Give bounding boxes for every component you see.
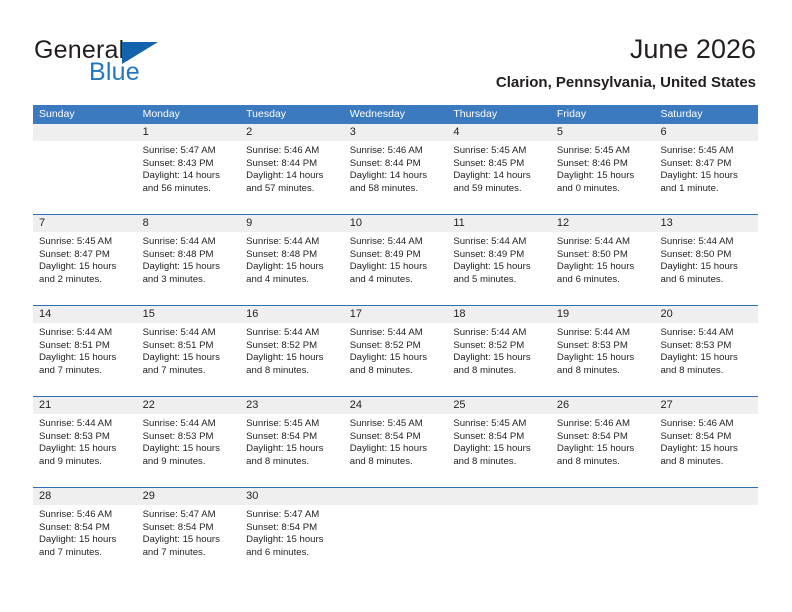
daylight-text-line2: and 4 minutes. [246, 274, 338, 287]
daylight-text-line2: and 58 minutes. [350, 183, 442, 196]
title-block: June 2026 Clarion, Pennsylvania, United … [496, 32, 756, 92]
day-number: 17 [344, 306, 448, 323]
calendar-day-cell[interactable]: 13Sunrise: 5:44 AMSunset: 8:50 PMDayligh… [654, 215, 758, 305]
calendar-day-cell[interactable]: 11Sunrise: 5:44 AMSunset: 8:49 PMDayligh… [447, 215, 551, 305]
day-number: 27 [654, 397, 758, 414]
sunset-text: Sunset: 8:53 PM [39, 431, 131, 444]
daylight-text-line1: Daylight: 15 hours [453, 443, 545, 456]
day-number: 28 [33, 488, 137, 505]
calendar-week-row: 7Sunrise: 5:45 AMSunset: 8:47 PMDaylight… [33, 214, 758, 305]
weekday-header-sunday: Sunday [33, 105, 137, 124]
calendar-week-row: 28Sunrise: 5:46 AMSunset: 8:54 PMDayligh… [33, 487, 758, 578]
daylight-text-line1: Daylight: 15 hours [350, 443, 442, 456]
calendar-day-cell[interactable]: 30Sunrise: 5:47 AMSunset: 8:54 PMDayligh… [240, 488, 344, 578]
daylight-text-line1: Daylight: 15 hours [143, 352, 235, 365]
sunrise-text: Sunrise: 5:46 AM [557, 418, 649, 431]
day-number: 21 [33, 397, 137, 414]
sunrise-text: Sunrise: 5:45 AM [350, 418, 442, 431]
calendar-week-row: 1Sunrise: 5:47 AMSunset: 8:43 PMDaylight… [33, 124, 758, 214]
day-sun-info: Sunrise: 5:44 AMSunset: 8:53 PMDaylight:… [654, 323, 758, 377]
calendar-page: General Blue June 2026 Clarion, Pennsylv… [0, 0, 792, 612]
sunrise-text: Sunrise: 5:44 AM [246, 327, 338, 340]
daylight-text-line1: Daylight: 15 hours [246, 443, 338, 456]
daylight-text-line2: and 59 minutes. [453, 183, 545, 196]
daylight-text-line1: Daylight: 15 hours [557, 443, 649, 456]
day-number: 2 [240, 124, 344, 141]
daylight-text-line2: and 2 minutes. [39, 274, 131, 287]
calendar-day-cell[interactable]: 25Sunrise: 5:45 AMSunset: 8:54 PMDayligh… [447, 397, 551, 487]
sunset-text: Sunset: 8:47 PM [660, 158, 752, 171]
day-number [654, 488, 758, 505]
sunset-text: Sunset: 8:44 PM [350, 158, 442, 171]
daylight-text-line1: Daylight: 15 hours [660, 352, 752, 365]
daylight-text-line1: Daylight: 15 hours [246, 261, 338, 274]
sunset-text: Sunset: 8:52 PM [350, 340, 442, 353]
day-sun-info: Sunrise: 5:44 AMSunset: 8:50 PMDaylight:… [551, 232, 655, 286]
daylight-text-line2: and 8 minutes. [453, 456, 545, 469]
daylight-text-line2: and 8 minutes. [246, 456, 338, 469]
sunset-text: Sunset: 8:51 PM [39, 340, 131, 353]
sunrise-text: Sunrise: 5:44 AM [350, 327, 442, 340]
day-sun-info: Sunrise: 5:45 AMSunset: 8:45 PMDaylight:… [447, 141, 551, 195]
day-sun-info: Sunrise: 5:44 AMSunset: 8:49 PMDaylight:… [447, 232, 551, 286]
daylight-text-line2: and 9 minutes. [39, 456, 131, 469]
calendar-cell-empty [33, 124, 137, 214]
day-number: 14 [33, 306, 137, 323]
day-sun-info: Sunrise: 5:44 AMSunset: 8:48 PMDaylight:… [240, 232, 344, 286]
sunrise-text: Sunrise: 5:44 AM [557, 236, 649, 249]
day-number: 9 [240, 215, 344, 232]
day-number: 24 [344, 397, 448, 414]
sunrise-text: Sunrise: 5:47 AM [143, 509, 235, 522]
daylight-text-line1: Daylight: 15 hours [557, 352, 649, 365]
day-number: 5 [551, 124, 655, 141]
day-number [344, 488, 448, 505]
day-number: 23 [240, 397, 344, 414]
daylight-text-line2: and 5 minutes. [453, 274, 545, 287]
daylight-text-line1: Daylight: 15 hours [143, 443, 235, 456]
sunrise-text: Sunrise: 5:45 AM [246, 418, 338, 431]
sunset-text: Sunset: 8:48 PM [246, 249, 338, 262]
day-sun-info: Sunrise: 5:46 AMSunset: 8:54 PMDaylight:… [654, 414, 758, 468]
day-number: 10 [344, 215, 448, 232]
sunrise-text: Sunrise: 5:44 AM [143, 418, 235, 431]
calendar-day-cell[interactable]: 18Sunrise: 5:44 AMSunset: 8:52 PMDayligh… [447, 306, 551, 396]
daylight-text-line2: and 7 minutes. [143, 365, 235, 378]
day-sun-info: Sunrise: 5:44 AMSunset: 8:53 PMDaylight:… [33, 414, 137, 468]
sunrise-text: Sunrise: 5:46 AM [39, 509, 131, 522]
daylight-text-line2: and 8 minutes. [350, 456, 442, 469]
daylight-text-line2: and 8 minutes. [350, 365, 442, 378]
day-sun-info: Sunrise: 5:45 AMSunset: 8:54 PMDaylight:… [344, 414, 448, 468]
sunrise-text: Sunrise: 5:44 AM [143, 236, 235, 249]
daylight-text-line1: Daylight: 14 hours [246, 170, 338, 183]
day-number: 16 [240, 306, 344, 323]
daylight-text-line2: and 8 minutes. [453, 365, 545, 378]
calendar-day-cell[interactable]: 2Sunrise: 5:46 AMSunset: 8:44 PMDaylight… [240, 124, 344, 214]
sunset-text: Sunset: 8:43 PM [143, 158, 235, 171]
calendar-day-cell[interactable]: 26Sunrise: 5:46 AMSunset: 8:54 PMDayligh… [551, 397, 655, 487]
day-sun-info: Sunrise: 5:45 AMSunset: 8:54 PMDaylight:… [447, 414, 551, 468]
daylight-text-line1: Daylight: 15 hours [557, 170, 649, 183]
daylight-text-line1: Daylight: 15 hours [350, 352, 442, 365]
calendar-day-cell[interactable]: 29Sunrise: 5:47 AMSunset: 8:54 PMDayligh… [137, 488, 241, 578]
day-sun-info: Sunrise: 5:46 AMSunset: 8:44 PMDaylight:… [240, 141, 344, 195]
sunset-text: Sunset: 8:54 PM [39, 522, 131, 535]
day-number: 8 [137, 215, 241, 232]
day-sun-info: Sunrise: 5:44 AMSunset: 8:52 PMDaylight:… [344, 323, 448, 377]
daylight-text-line1: Daylight: 15 hours [143, 534, 235, 547]
calendar-cell-empty [551, 488, 655, 578]
calendar-day-cell[interactable]: 7Sunrise: 5:45 AMSunset: 8:47 PMDaylight… [33, 215, 137, 305]
day-number: 15 [137, 306, 241, 323]
day-sun-info: Sunrise: 5:44 AMSunset: 8:50 PMDaylight:… [654, 232, 758, 286]
day-number: 4 [447, 124, 551, 141]
calendar-cell-empty [654, 488, 758, 578]
day-number: 29 [137, 488, 241, 505]
day-sun-info: Sunrise: 5:44 AMSunset: 8:53 PMDaylight:… [551, 323, 655, 377]
sunrise-text: Sunrise: 5:47 AM [143, 145, 235, 158]
daylight-text-line2: and 6 minutes. [557, 274, 649, 287]
daylight-text-line2: and 9 minutes. [143, 456, 235, 469]
weekday-header-saturday: Saturday [654, 105, 758, 124]
sunset-text: Sunset: 8:54 PM [557, 431, 649, 444]
sunrise-text: Sunrise: 5:44 AM [39, 327, 131, 340]
day-number: 7 [33, 215, 137, 232]
sunrise-text: Sunrise: 5:44 AM [660, 236, 752, 249]
daylight-text-line1: Daylight: 15 hours [39, 443, 131, 456]
day-number: 20 [654, 306, 758, 323]
sunset-text: Sunset: 8:52 PM [246, 340, 338, 353]
day-number: 13 [654, 215, 758, 232]
sunrise-text: Sunrise: 5:44 AM [453, 327, 545, 340]
day-sun-info: Sunrise: 5:47 AMSunset: 8:54 PMDaylight:… [240, 505, 344, 559]
calendar-day-cell[interactable]: 12Sunrise: 5:44 AMSunset: 8:50 PMDayligh… [551, 215, 655, 305]
sunrise-text: Sunrise: 5:45 AM [660, 145, 752, 158]
sunset-text: Sunset: 8:49 PM [350, 249, 442, 262]
daylight-text-line2: and 0 minutes. [557, 183, 649, 196]
day-number: 30 [240, 488, 344, 505]
daylight-text-line2: and 8 minutes. [660, 456, 752, 469]
sunset-text: Sunset: 8:50 PM [557, 249, 649, 262]
day-sun-info: Sunrise: 5:47 AMSunset: 8:43 PMDaylight:… [137, 141, 241, 195]
day-sun-info: Sunrise: 5:44 AMSunset: 8:51 PMDaylight:… [33, 323, 137, 377]
day-sun-info: Sunrise: 5:45 AMSunset: 8:46 PMDaylight:… [551, 141, 655, 195]
daylight-text-line2: and 7 minutes. [39, 547, 131, 560]
day-number [447, 488, 551, 505]
day-number [551, 488, 655, 505]
day-sun-info: Sunrise: 5:44 AMSunset: 8:52 PMDaylight:… [447, 323, 551, 377]
calendar-day-cell[interactable]: 14Sunrise: 5:44 AMSunset: 8:51 PMDayligh… [33, 306, 137, 396]
day-sun-info: Sunrise: 5:44 AMSunset: 8:53 PMDaylight:… [137, 414, 241, 468]
page-subtitle: Clarion, Pennsylvania, United States [496, 74, 756, 92]
sunrise-text: Sunrise: 5:45 AM [557, 145, 649, 158]
sunset-text: Sunset: 8:45 PM [453, 158, 545, 171]
day-number: 3 [344, 124, 448, 141]
sunset-text: Sunset: 8:53 PM [660, 340, 752, 353]
sunrise-text: Sunrise: 5:46 AM [246, 145, 338, 158]
page-header: General Blue June 2026 Clarion, Pennsylv… [0, 0, 792, 100]
sunrise-text: Sunrise: 5:46 AM [350, 145, 442, 158]
day-sun-info: Sunrise: 5:44 AMSunset: 8:49 PMDaylight:… [344, 232, 448, 286]
daylight-text-line2: and 6 minutes. [660, 274, 752, 287]
day-sun-info: Sunrise: 5:45 AMSunset: 8:47 PMDaylight:… [654, 141, 758, 195]
daylight-text-line2: and 1 minute. [660, 183, 752, 196]
calendar-week-row: 14Sunrise: 5:44 AMSunset: 8:51 PMDayligh… [33, 305, 758, 396]
sunrise-text: Sunrise: 5:44 AM [660, 327, 752, 340]
weekday-header-wednesday: Wednesday [344, 105, 448, 124]
day-number: 22 [137, 397, 241, 414]
weekday-header-friday: Friday [551, 105, 655, 124]
daylight-text-line1: Daylight: 14 hours [453, 170, 545, 183]
calendar-day-cell[interactable]: 6Sunrise: 5:45 AMSunset: 8:47 PMDaylight… [654, 124, 758, 214]
day-number: 18 [447, 306, 551, 323]
sunrise-text: Sunrise: 5:44 AM [350, 236, 442, 249]
calendar-day-cell[interactable]: 27Sunrise: 5:46 AMSunset: 8:54 PMDayligh… [654, 397, 758, 487]
calendar-day-cell[interactable]: 19Sunrise: 5:44 AMSunset: 8:53 PMDayligh… [551, 306, 655, 396]
sunrise-text: Sunrise: 5:44 AM [39, 418, 131, 431]
weekday-header-thursday: Thursday [447, 105, 551, 124]
day-number: 1 [137, 124, 241, 141]
day-number: 12 [551, 215, 655, 232]
sunset-text: Sunset: 8:54 PM [453, 431, 545, 444]
day-sun-info: Sunrise: 5:46 AMSunset: 8:54 PMDaylight:… [33, 505, 137, 559]
sunset-text: Sunset: 8:52 PM [453, 340, 545, 353]
daylight-text-line1: Daylight: 15 hours [143, 261, 235, 274]
page-title: June 2026 [496, 32, 756, 66]
calendar-day-cell[interactable]: 28Sunrise: 5:46 AMSunset: 8:54 PMDayligh… [33, 488, 137, 578]
daylight-text-line1: Daylight: 15 hours [39, 261, 131, 274]
calendar-day-cell[interactable]: 23Sunrise: 5:45 AMSunset: 8:54 PMDayligh… [240, 397, 344, 487]
weekday-header-tuesday: Tuesday [240, 105, 344, 124]
daylight-text-line2: and 57 minutes. [246, 183, 338, 196]
day-sun-info: Sunrise: 5:44 AMSunset: 8:51 PMDaylight:… [137, 323, 241, 377]
daylight-text-line2: and 7 minutes. [143, 547, 235, 560]
sunset-text: Sunset: 8:54 PM [143, 522, 235, 535]
day-number: 6 [654, 124, 758, 141]
calendar-day-cell[interactable]: 9Sunrise: 5:44 AMSunset: 8:48 PMDaylight… [240, 215, 344, 305]
calendar-day-cell[interactable]: 21Sunrise: 5:44 AMSunset: 8:53 PMDayligh… [33, 397, 137, 487]
calendar-week-row: 21Sunrise: 5:44 AMSunset: 8:53 PMDayligh… [33, 396, 758, 487]
daylight-text-line1: Daylight: 15 hours [453, 352, 545, 365]
calendar-cell-empty [344, 488, 448, 578]
daylight-text-line1: Daylight: 15 hours [660, 170, 752, 183]
daylight-text-line1: Daylight: 15 hours [246, 534, 338, 547]
day-sun-info: Sunrise: 5:44 AMSunset: 8:52 PMDaylight:… [240, 323, 344, 377]
day-sun-info: Sunrise: 5:44 AMSunset: 8:48 PMDaylight:… [137, 232, 241, 286]
daylight-text-line1: Daylight: 15 hours [39, 534, 131, 547]
daylight-text-line1: Daylight: 14 hours [143, 170, 235, 183]
calendar-day-cell[interactable]: 20Sunrise: 5:44 AMSunset: 8:53 PMDayligh… [654, 306, 758, 396]
daylight-text-line2: and 3 minutes. [143, 274, 235, 287]
sunset-text: Sunset: 8:50 PM [660, 249, 752, 262]
daylight-text-line1: Daylight: 14 hours [350, 170, 442, 183]
day-sun-info: Sunrise: 5:47 AMSunset: 8:54 PMDaylight:… [137, 505, 241, 559]
calendar-day-cell[interactable]: 15Sunrise: 5:44 AMSunset: 8:51 PMDayligh… [137, 306, 241, 396]
sunrise-text: Sunrise: 5:47 AM [246, 509, 338, 522]
calendar-weeks: 1Sunrise: 5:47 AMSunset: 8:43 PMDaylight… [33, 124, 758, 578]
sunrise-text: Sunrise: 5:46 AM [660, 418, 752, 431]
sunset-text: Sunset: 8:51 PM [143, 340, 235, 353]
daylight-text-line1: Daylight: 15 hours [660, 261, 752, 274]
daylight-text-line2: and 7 minutes. [39, 365, 131, 378]
daylight-text-line1: Daylight: 15 hours [453, 261, 545, 274]
sunset-text: Sunset: 8:44 PM [246, 158, 338, 171]
daylight-text-line2: and 6 minutes. [246, 547, 338, 560]
logo-text-blue: Blue [89, 58, 140, 87]
day-number: 11 [447, 215, 551, 232]
sunset-text: Sunset: 8:54 PM [246, 431, 338, 444]
sunset-text: Sunset: 8:53 PM [143, 431, 235, 444]
sunset-text: Sunset: 8:54 PM [246, 522, 338, 535]
sunrise-text: Sunrise: 5:45 AM [453, 418, 545, 431]
daylight-text-line1: Daylight: 15 hours [39, 352, 131, 365]
sunrise-text: Sunrise: 5:44 AM [453, 236, 545, 249]
calendar-day-cell[interactable]: 1Sunrise: 5:47 AMSunset: 8:43 PMDaylight… [137, 124, 241, 214]
sunset-text: Sunset: 8:47 PM [39, 249, 131, 262]
calendar-day-cell[interactable]: 24Sunrise: 5:45 AMSunset: 8:54 PMDayligh… [344, 397, 448, 487]
day-sun-info: Sunrise: 5:45 AMSunset: 8:54 PMDaylight:… [240, 414, 344, 468]
sunrise-text: Sunrise: 5:44 AM [143, 327, 235, 340]
sunset-text: Sunset: 8:49 PM [453, 249, 545, 262]
sunrise-text: Sunrise: 5:44 AM [557, 327, 649, 340]
day-sun-info: Sunrise: 5:46 AMSunset: 8:44 PMDaylight:… [344, 141, 448, 195]
day-sun-info: Sunrise: 5:46 AMSunset: 8:54 PMDaylight:… [551, 414, 655, 468]
daylight-text-line2: and 8 minutes. [557, 365, 649, 378]
calendar-day-cell[interactable]: 4Sunrise: 5:45 AMSunset: 8:45 PMDaylight… [447, 124, 551, 214]
weekday-header-monday: Monday [137, 105, 241, 124]
daylight-text-line2: and 8 minutes. [660, 365, 752, 378]
calendar-day-cell[interactable]: 17Sunrise: 5:44 AMSunset: 8:52 PMDayligh… [344, 306, 448, 396]
day-number [33, 124, 137, 141]
daylight-text-line1: Daylight: 15 hours [660, 443, 752, 456]
calendar-day-cell[interactable]: 3Sunrise: 5:46 AMSunset: 8:44 PMDaylight… [344, 124, 448, 214]
calendar-day-cell[interactable]: 8Sunrise: 5:44 AMSunset: 8:48 PMDaylight… [137, 215, 241, 305]
calendar-day-cell[interactable]: 10Sunrise: 5:44 AMSunset: 8:49 PMDayligh… [344, 215, 448, 305]
sunset-text: Sunset: 8:54 PM [350, 431, 442, 444]
daylight-text-line2: and 8 minutes. [246, 365, 338, 378]
calendar-cell-empty [447, 488, 551, 578]
day-number: 25 [447, 397, 551, 414]
sunset-text: Sunset: 8:46 PM [557, 158, 649, 171]
day-number: 19 [551, 306, 655, 323]
day-sun-info: Sunrise: 5:45 AMSunset: 8:47 PMDaylight:… [33, 232, 137, 286]
sunset-text: Sunset: 8:48 PM [143, 249, 235, 262]
day-number: 26 [551, 397, 655, 414]
sunrise-text: Sunrise: 5:45 AM [39, 236, 131, 249]
calendar-day-cell[interactable]: 5Sunrise: 5:45 AMSunset: 8:46 PMDaylight… [551, 124, 655, 214]
daylight-text-line2: and 56 minutes. [143, 183, 235, 196]
sunset-text: Sunset: 8:53 PM [557, 340, 649, 353]
daylight-text-line2: and 8 minutes. [557, 456, 649, 469]
daylight-text-line1: Daylight: 15 hours [557, 261, 649, 274]
general-blue-logo[interactable]: General Blue [34, 36, 214, 92]
sunset-text: Sunset: 8:54 PM [660, 431, 752, 444]
weekday-header-row: Sunday Monday Tuesday Wednesday Thursday… [33, 105, 758, 124]
daylight-text-line1: Daylight: 15 hours [246, 352, 338, 365]
calendar-grid: Sunday Monday Tuesday Wednesday Thursday… [33, 105, 758, 578]
daylight-text-line2: and 4 minutes. [350, 274, 442, 287]
daylight-text-line1: Daylight: 15 hours [350, 261, 442, 274]
calendar-day-cell[interactable]: 22Sunrise: 5:44 AMSunset: 8:53 PMDayligh… [137, 397, 241, 487]
calendar-day-cell[interactable]: 16Sunrise: 5:44 AMSunset: 8:52 PMDayligh… [240, 306, 344, 396]
sunrise-text: Sunrise: 5:44 AM [246, 236, 338, 249]
sunrise-text: Sunrise: 5:45 AM [453, 145, 545, 158]
